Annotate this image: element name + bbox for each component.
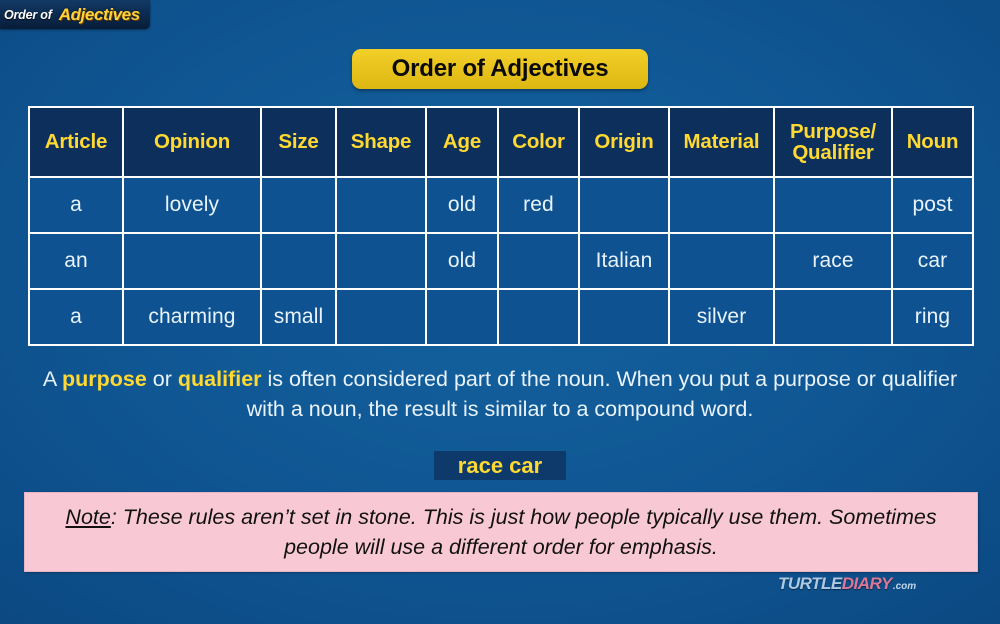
- table-cell: a: [29, 177, 123, 233]
- table-cell: post: [892, 177, 973, 233]
- watermark-turtle-text: TURTLE: [778, 574, 842, 594]
- table-cell: car: [892, 233, 973, 289]
- explanation-paragraph: A purpose or qualifier is often consider…: [30, 364, 970, 424]
- watermark-diary-text: DIARY: [842, 574, 892, 594]
- example-highlight-badge: race car: [434, 451, 566, 480]
- table-cell: an: [29, 233, 123, 289]
- page-title-banner: Order of Adjectives: [352, 49, 648, 89]
- table-cell: [336, 289, 426, 345]
- page-title: Order of Adjectives: [392, 55, 609, 83]
- table-cell: [498, 289, 579, 345]
- table-cell: [261, 233, 336, 289]
- turtlediary-watermark: TURTLEDIARY.com: [778, 574, 916, 594]
- note-label: Note: [65, 505, 110, 529]
- column-header-material: Material: [669, 107, 774, 177]
- table-cell: small: [261, 289, 336, 345]
- table-row: a charming small silver ring: [29, 289, 973, 345]
- table-cell: a: [29, 289, 123, 345]
- table-cell: charming: [123, 289, 261, 345]
- table-cell: [123, 233, 261, 289]
- table-cell: [579, 289, 669, 345]
- paragraph-part-3: is often considered part of the noun. Wh…: [247, 367, 958, 421]
- table-cell: old: [426, 233, 498, 289]
- order-of-adjectives-table: Article Opinion Size Shape Age Color Ori…: [28, 106, 974, 346]
- table-cell: [336, 233, 426, 289]
- table-cell: race: [774, 233, 892, 289]
- table-row: a lovely old red post: [29, 177, 973, 233]
- table-row: an old Italian race car: [29, 233, 973, 289]
- example-text: race car: [458, 453, 542, 479]
- column-header-origin: Origin: [579, 107, 669, 177]
- table-cell: [498, 233, 579, 289]
- watermark-domain-text: .com: [893, 581, 916, 592]
- lesson-logo-badge: Order of Adjectives: [0, 0, 150, 29]
- logo-prefix-text: Order of: [4, 8, 52, 22]
- column-header-age: Age: [426, 107, 498, 177]
- note-callout-box: Note: These rules aren’t set in stone. T…: [24, 492, 978, 572]
- table-cell: [774, 177, 892, 233]
- note-body: : These rules aren’t set in stone. This …: [111, 505, 937, 559]
- table-cell: silver: [669, 289, 774, 345]
- table-cell: [261, 177, 336, 233]
- order-of-adjectives-table-container: Article Opinion Size Shape Age Color Ori…: [28, 106, 972, 346]
- table-cell: Italian: [579, 233, 669, 289]
- table-cell: [426, 289, 498, 345]
- table-header-row: Article Opinion Size Shape Age Color Ori…: [29, 107, 973, 177]
- note-text: Note: These rules aren’t set in stone. T…: [25, 502, 977, 562]
- column-header-shape: Shape: [336, 107, 426, 177]
- table-cell: [669, 177, 774, 233]
- table-cell: [774, 289, 892, 345]
- paragraph-part-1: A: [43, 367, 62, 391]
- column-header-article: Article: [29, 107, 123, 177]
- table-body: a lovely old red post an old: [29, 177, 973, 345]
- table-cell: [579, 177, 669, 233]
- column-header-purpose-qualifier: Purpose/Qualifier: [774, 107, 892, 177]
- table-cell: lovely: [123, 177, 261, 233]
- column-header-opinion: Opinion: [123, 107, 261, 177]
- column-header-color: Color: [498, 107, 579, 177]
- paragraph-bold-purpose: purpose: [62, 367, 147, 391]
- table-cell: old: [426, 177, 498, 233]
- table-cell: [669, 233, 774, 289]
- column-header-size: Size: [261, 107, 336, 177]
- paragraph-part-2: or: [147, 367, 178, 391]
- lesson-slide: Order of Adjectives Order of Adjectives: [0, 0, 1000, 624]
- paragraph-bold-qualifier: qualifier: [178, 367, 262, 391]
- table-cell: ring: [892, 289, 973, 345]
- table-cell: [336, 177, 426, 233]
- column-header-noun: Noun: [892, 107, 973, 177]
- logo-main-text: Adjectives: [59, 5, 140, 25]
- table-cell: red: [498, 177, 579, 233]
